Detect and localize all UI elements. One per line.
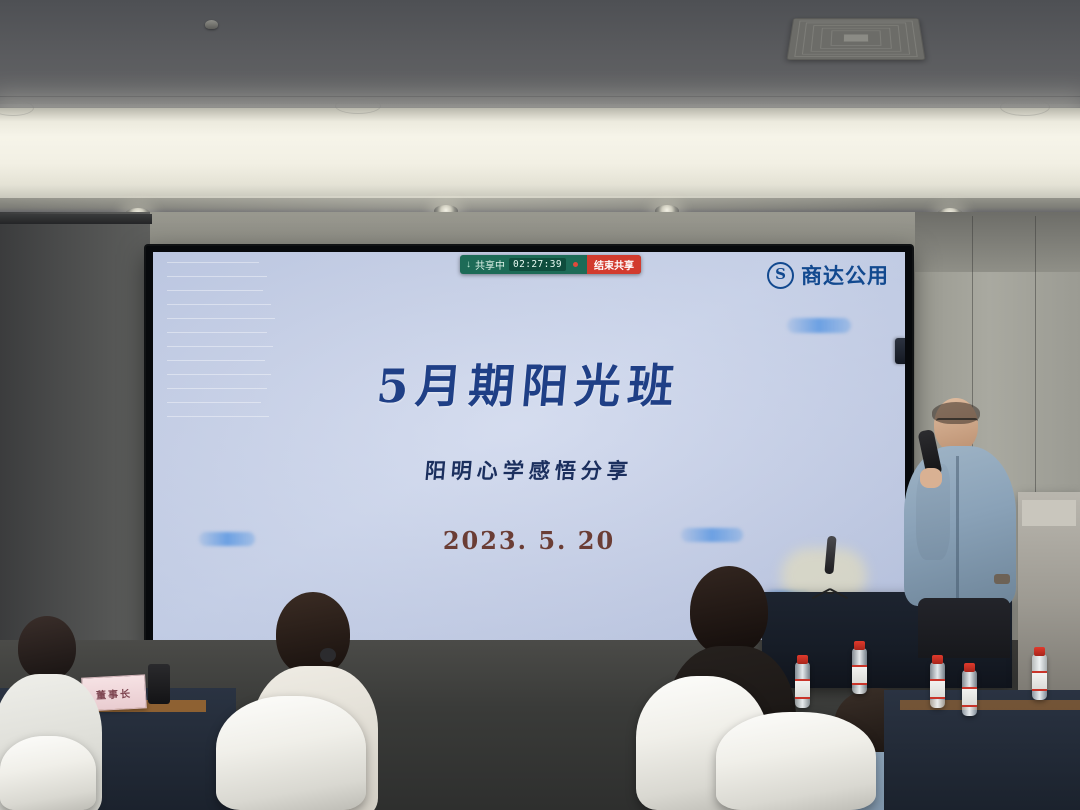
lectern-top (1022, 500, 1076, 526)
hvac-diffuser-vent (786, 18, 925, 60)
share-timer: 02:27:39 (509, 258, 566, 271)
curtain-rail (0, 214, 152, 224)
attendee-accessory (320, 648, 336, 662)
ceiling-downlight-ring (1000, 98, 1050, 116)
presenter (900, 398, 1020, 648)
wristwatch (994, 574, 1010, 584)
slide-decoration-pill (787, 318, 851, 333)
slide-subtitle: 阳明心学感悟分享 (153, 455, 905, 485)
slide-title: 5月期阳光班 (153, 350, 905, 416)
water-bottle (962, 670, 977, 716)
water-bottle (852, 648, 867, 694)
audience-chair (0, 736, 96, 810)
ceiling-seam (0, 96, 1080, 97)
presenter-trousers (918, 598, 1010, 658)
end-share-button[interactable]: 结束共享 (587, 255, 641, 274)
table-wood-edge (900, 700, 1080, 710)
audience-chair (216, 696, 366, 810)
water-bottle (930, 662, 945, 708)
share-status-group: ↓ 共享中 02:27:39 (460, 255, 587, 274)
right-wall-upper (915, 212, 1080, 272)
download-arrow-icon: ↓ (466, 259, 471, 270)
ceiling-downlight-ring (335, 98, 381, 114)
recording-dot-icon (573, 262, 578, 267)
presentation-room-photo: S 商达公用 ↓ 共享中 02:27:39 结束共享 5月期阳光班 阳明心学感悟… (0, 0, 1080, 810)
desk-device (148, 664, 170, 704)
sprinkler-head (205, 20, 218, 29)
water-bottle (1032, 654, 1047, 700)
brand-logo: S 商达公用 (767, 260, 889, 290)
nameplate-label: 董事长 (96, 685, 133, 702)
cove-light-band (0, 108, 1080, 204)
screen-share-toolbar[interactable]: ↓ 共享中 02:27:39 结束共享 (460, 255, 641, 274)
slide-date: 2023. 5. 20 (153, 526, 905, 555)
share-status-label: 共享中 (475, 257, 505, 272)
brand-mark-glyph: S (775, 267, 786, 282)
water-bottle (795, 662, 810, 708)
audience-chair (716, 712, 876, 810)
glasses-icon (936, 418, 978, 428)
projection-screen: S 商达公用 ↓ 共享中 02:27:39 结束共享 5月期阳光班 阳明心学感悟… (153, 252, 905, 648)
shirt-placket (956, 456, 959, 604)
left-wall (0, 212, 150, 682)
brand-name: 商达公用 (801, 260, 889, 290)
presenter-hand (920, 468, 942, 488)
brand-swirl-icon: S (767, 262, 794, 289)
